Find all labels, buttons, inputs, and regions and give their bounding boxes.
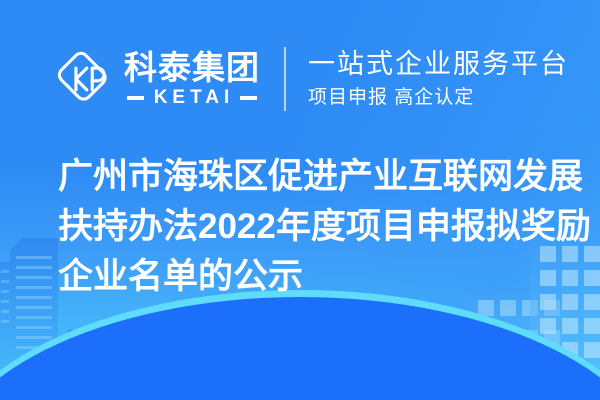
arc-solid-fill: [0, 297, 600, 400]
headline-block: 广州市海珠区促进产业互联网发展 扶持办法2022年度项目申报拟奖励 企业名单的公…: [58, 152, 558, 302]
header-divider: [284, 47, 286, 111]
tagline-main: 一站式企业服务平台: [308, 48, 569, 80]
logo-wordmark: 科泰集团 KETAI: [124, 51, 260, 108]
headline-line-3: 企业名单的公示: [58, 252, 558, 302]
ketai-logo-icon: [56, 50, 114, 108]
logo-name-en: KETAI: [150, 88, 235, 107]
headline-line-2: 扶持办法2022年度项目申报拟奖励: [58, 202, 558, 252]
logo-dash-left-icon: [127, 96, 144, 100]
logo-name-cn: 科泰集团: [124, 51, 260, 86]
tagline-sub: 项目申报 高企认定: [308, 86, 569, 110]
headline-line-1: 广州市海珠区促进产业互联网发展: [58, 152, 558, 202]
logo-name-en-row: KETAI: [127, 88, 258, 107]
logo-dash-right-icon: [240, 96, 257, 100]
bottom-arc: [0, 290, 600, 400]
promo-banner: 科泰集团 KETAI 一站式企业服务平台 项目申报 高企认定 广州市海珠区促进产…: [0, 0, 600, 400]
banner-header: 科泰集团 KETAI 一站式企业服务平台 项目申报 高企认定: [56, 40, 569, 118]
tagline-block: 一站式企业服务平台 项目申报 高企认定: [308, 48, 569, 110]
